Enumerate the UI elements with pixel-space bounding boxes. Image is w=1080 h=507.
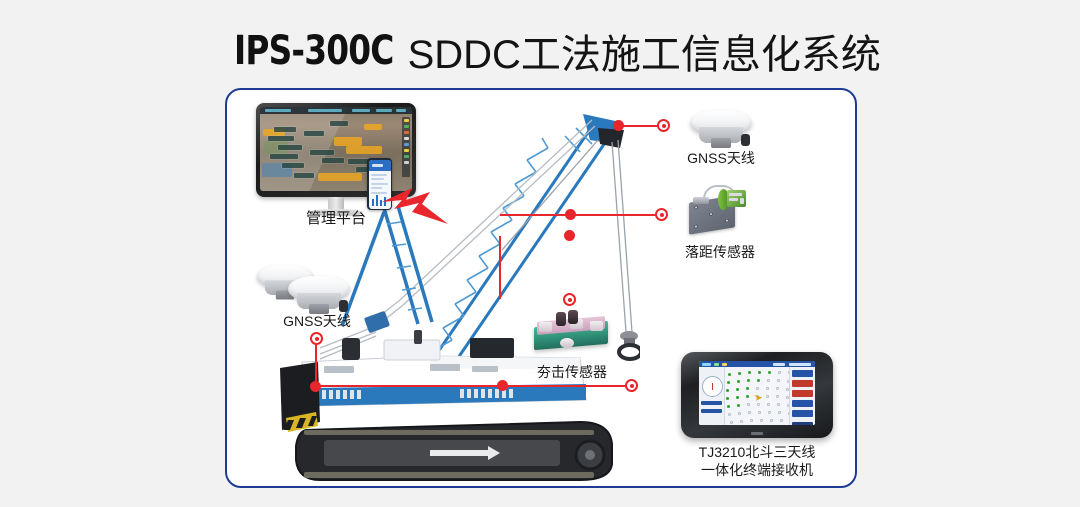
- antenna-connector: [741, 134, 750, 146]
- tablet-right-panel: [789, 367, 815, 425]
- connector-dot-machine-box: [497, 380, 508, 391]
- label-gnss-antenna-left: GNSS天线: [262, 313, 372, 330]
- connector-dot-tamping: [563, 293, 576, 306]
- antenna-connector: [339, 300, 348, 312]
- tamping-sensor-pad: [590, 321, 603, 331]
- gnss-antenna-left-front: [288, 276, 350, 316]
- connector-dot-gnss-left: [310, 332, 323, 345]
- connector-dot-receiver: [625, 379, 638, 392]
- phone-row: [371, 187, 382, 189]
- connector-dot-boom-head: [613, 120, 624, 131]
- label-gnss-antenna-top: GNSS天线: [666, 150, 776, 167]
- phone-header: [369, 160, 391, 171]
- connector-dot-boom-mid: [565, 209, 576, 220]
- tablet-action-button[interactable]: [792, 410, 813, 417]
- diagram-stage: 管理平台: [0, 0, 1080, 507]
- tablet-body: [681, 352, 833, 438]
- tamping-sensor-cylinder: [556, 312, 566, 326]
- antenna-mount: [711, 138, 731, 148]
- tablet-action-button[interactable]: [792, 400, 813, 407]
- connector-line-boom-vertical: [499, 236, 501, 299]
- tablet-left-button: [701, 409, 722, 413]
- label-tamping-sensor: 夯击传感器: [512, 364, 632, 381]
- drop-distance-sensor: [687, 183, 751, 235]
- tamping-sensor: [534, 310, 608, 354]
- connector-line-tamping: [315, 385, 630, 387]
- connector-dot-boom-lower: [564, 230, 575, 241]
- sensor-circuit-board: [727, 190, 746, 207]
- label-integrated-receiver-line1: TJ3210北斗三天线: [677, 444, 837, 461]
- tablet-brand-strip: [746, 430, 768, 436]
- compass-widget: [702, 376, 723, 397]
- tablet-action-button[interactable]: [792, 370, 813, 377]
- tablet-left-button: [701, 401, 722, 405]
- phone-chart-bar: [376, 195, 379, 206]
- connector-dot-counterweight: [310, 381, 321, 392]
- tamping-sensor-disc: [560, 338, 574, 348]
- tamping-sensor-pad: [539, 322, 552, 332]
- tablet-left-panel: [699, 367, 725, 425]
- label-drop-distance-sensor: 落距传感器: [660, 244, 780, 261]
- connector-dot-drop-sensor: [655, 208, 668, 221]
- point-grid: [724, 367, 790, 425]
- tamping-sensor-cylinder: [568, 310, 578, 324]
- tablet-screen: [699, 361, 815, 425]
- tablet-confirm-button[interactable]: [792, 422, 813, 425]
- label-integrated-receiver-line2: 一体化终端接收机: [677, 462, 837, 479]
- lightning-bolt-icon: [382, 178, 448, 226]
- phone-chart-bar: [372, 199, 375, 206]
- connector-line-counterweight: [315, 338, 317, 386]
- tablet-action-button[interactable]: [792, 390, 813, 397]
- gnss-antenna-top: [690, 110, 752, 150]
- phone-row: [371, 174, 387, 176]
- tablet-action-button[interactable]: [792, 380, 813, 387]
- connector-line-drop-sensor: [500, 214, 660, 216]
- sensor-connector: [693, 197, 709, 204]
- integrated-receiver-tablet: [681, 352, 833, 438]
- connector-dot-gnss-top: [657, 119, 670, 132]
